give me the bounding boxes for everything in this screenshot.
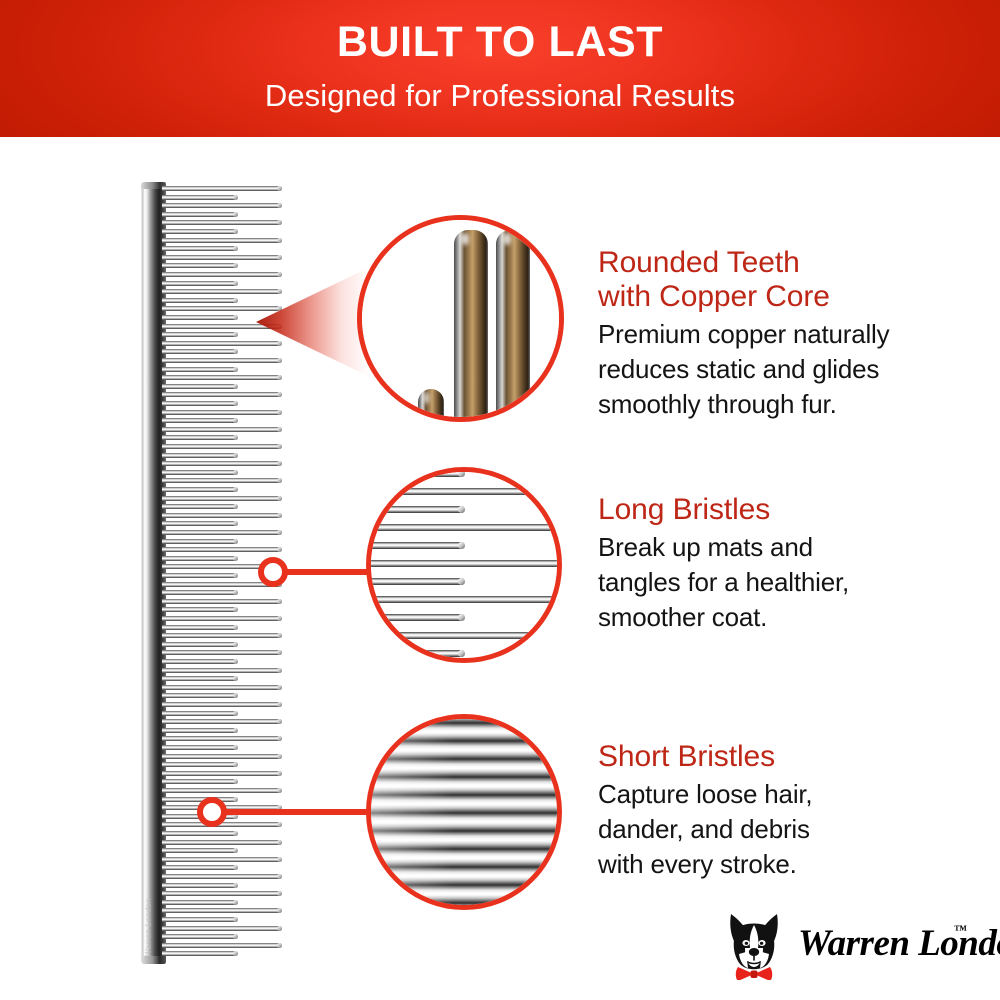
comb-tooth (162, 220, 282, 225)
comb-tooth (162, 917, 238, 922)
bristle (366, 470, 465, 477)
callout-short-bristles: Short Bristles Capture loose hair, dande… (598, 739, 988, 882)
comb-tooth (162, 229, 238, 234)
comb-tooth (162, 831, 238, 836)
comb-tooth (162, 633, 282, 638)
comb-tooth (162, 840, 282, 845)
comb-tooth (162, 367, 238, 372)
connector-line-short-bristles (224, 809, 382, 815)
callout-body-line3: smoothly through fur. (598, 387, 988, 422)
detail-circle-short-bristles (366, 714, 562, 910)
short-bristles-detail-view (366, 714, 562, 910)
comb-tooth (162, 478, 282, 483)
detail-circle-long-bristles (366, 467, 562, 663)
copper-core-tooth (418, 389, 444, 422)
comb-tooth (162, 186, 282, 191)
comb-tooth (162, 573, 238, 578)
tip-highlight (424, 392, 430, 404)
comb-tooth (162, 298, 238, 303)
tip-highlight (503, 233, 510, 245)
comb-tooth (162, 659, 238, 664)
copper-core-tooth (454, 230, 488, 422)
boston-terrier-head-icon (718, 908, 790, 980)
bristle (366, 524, 562, 531)
callout-heading-line1: Rounded Teeth (598, 245, 988, 281)
comb-tooth (162, 590, 238, 595)
comb-tooth (162, 444, 282, 449)
comb-tooth (162, 556, 238, 561)
comb-tooth (162, 453, 238, 458)
comb-tooth (162, 246, 238, 251)
comb-tooth (162, 900, 238, 905)
comb-tooth (162, 883, 238, 888)
callout-long-bristles: Long Bristles Break up mats and tangles … (598, 492, 988, 635)
comb-tooth (162, 934, 238, 939)
copper-core-tooth (496, 230, 530, 422)
comb-tooth (162, 676, 238, 681)
comb-tooth (162, 435, 238, 440)
tip-highlight (461, 233, 468, 245)
rounded-tooth-tip (418, 389, 444, 411)
comb-tooth (162, 616, 282, 621)
comb-tooth (162, 504, 238, 509)
bristle (366, 596, 562, 603)
bristle (366, 578, 465, 585)
comb-tooth (162, 779, 238, 784)
bristle (366, 614, 465, 621)
comb-tooth (162, 272, 282, 277)
comb-tooth (162, 375, 282, 380)
comb-tooth (162, 754, 282, 759)
comb-tooth (162, 848, 238, 853)
comb-tooth (162, 642, 238, 647)
copper-core-tooth (542, 389, 564, 422)
comb-tooth (162, 521, 238, 526)
comb-tooth (162, 702, 282, 707)
comb-tooth (162, 539, 238, 544)
callout-body-line1: Capture loose hair, (598, 777, 988, 812)
callout-body-line2: tangles for a healthier, (598, 565, 988, 600)
comb-tooth (162, 332, 238, 337)
connector-dot-short-bristles (197, 797, 227, 827)
comb-tooth (162, 349, 238, 354)
comb-tooth (162, 607, 238, 612)
comb-tooth (162, 238, 282, 243)
callout-heading-line1: Short Bristles (598, 739, 988, 775)
comb-tooth (162, 788, 282, 793)
brand-logo: Warren London ™ (718, 908, 986, 980)
comb-tooth (162, 685, 282, 690)
comb-tooth (162, 693, 238, 698)
comb-tooth (162, 650, 282, 655)
comb-tooth (162, 926, 282, 931)
callout-body-line2: reduces static and glides (598, 352, 988, 387)
comb-tooth (162, 736, 282, 741)
comb-engraving: Warren London (144, 872, 164, 957)
comb-tooth (162, 547, 282, 552)
comb-tooth (162, 195, 238, 200)
comb-tooth (162, 410, 282, 415)
long-bristles-detail-view (366, 467, 562, 663)
comb-tooth (162, 943, 282, 948)
rounded-tooth-tip (454, 230, 488, 252)
comb-tooth (162, 461, 282, 466)
comb-tooth (162, 341, 282, 346)
header-banner: BUILT TO LAST Designed for Professional … (0, 0, 1000, 137)
rounded-tooth-tip (496, 230, 530, 252)
comb-tooth (162, 891, 282, 896)
comb-tooth (162, 771, 282, 776)
bristle (366, 506, 465, 513)
callout-body-line1: Break up mats and (598, 530, 988, 565)
comb-tooth (162, 418, 238, 423)
callout-body-line3: with every stroke. (598, 847, 988, 882)
comb-tooth (162, 728, 238, 733)
comb-tooth (162, 496, 282, 501)
comb-tooth (162, 762, 238, 767)
dense-gloss-overlay (366, 714, 454, 910)
comb-tooth (162, 513, 282, 518)
comb-tooth (162, 719, 282, 724)
comb-tooth (162, 668, 282, 673)
comb-tooth (162, 212, 238, 217)
copper-core-detail-view (357, 215, 564, 422)
callout-heading-line2: with Copper Core (598, 279, 988, 315)
comb-tooth (162, 392, 282, 397)
comb-tooth (162, 203, 282, 208)
comb-tooth (162, 401, 238, 406)
connector-dot-long-bristles (258, 557, 288, 587)
bristle (366, 632, 562, 639)
comb-tooth (162, 711, 238, 716)
comb-tooth (162, 487, 238, 492)
comb-tooth (162, 384, 238, 389)
bristle (366, 488, 562, 495)
comb-tooth (162, 530, 282, 535)
callout-body-line3: smoother coat. (598, 600, 988, 635)
comb-tooth (162, 263, 238, 268)
tip-highlight (548, 392, 554, 404)
brand-trademark-symbol: ™ (954, 922, 967, 938)
comb-tooth (162, 358, 282, 363)
comb-tooth (162, 857, 282, 862)
comb-tooth (162, 951, 238, 956)
comb-tooth (162, 908, 282, 913)
callout-body-line1: Premium copper naturally (598, 317, 988, 352)
comb-tooth (162, 470, 238, 475)
callout-body-line2: dander, and debris (598, 812, 988, 847)
comb-tooth (162, 625, 238, 630)
callout-heading-line1: Long Bristles (598, 492, 988, 528)
bristle (366, 560, 562, 567)
comb-tooth (162, 255, 282, 260)
comb-tooth (162, 745, 238, 750)
bowtie-knot (751, 971, 758, 979)
comb-tooth (162, 865, 238, 870)
comb-tooth (162, 281, 238, 286)
page-subtitle: Designed for Professional Results (0, 80, 1000, 111)
comb-tooth (162, 306, 282, 311)
comb-tooth (162, 599, 282, 604)
brand-wordmark: Warren London (798, 922, 1000, 965)
comb-tooth (162, 874, 282, 879)
product-infographic: BUILT TO LAST Designed for Professional … (0, 0, 1000, 1000)
callout-rounded-teeth: Rounded Teeth with Copper Core Premium c… (598, 245, 988, 422)
rounded-tooth-tip (542, 389, 564, 411)
comb-tooth (162, 427, 282, 432)
bristle (366, 542, 465, 549)
page-title: BUILT TO LAST (0, 21, 1000, 64)
comb-tooth (162, 289, 282, 294)
detail-circle-rounded-teeth (357, 215, 564, 422)
bristle (366, 650, 465, 657)
comb-tooth (162, 315, 238, 320)
